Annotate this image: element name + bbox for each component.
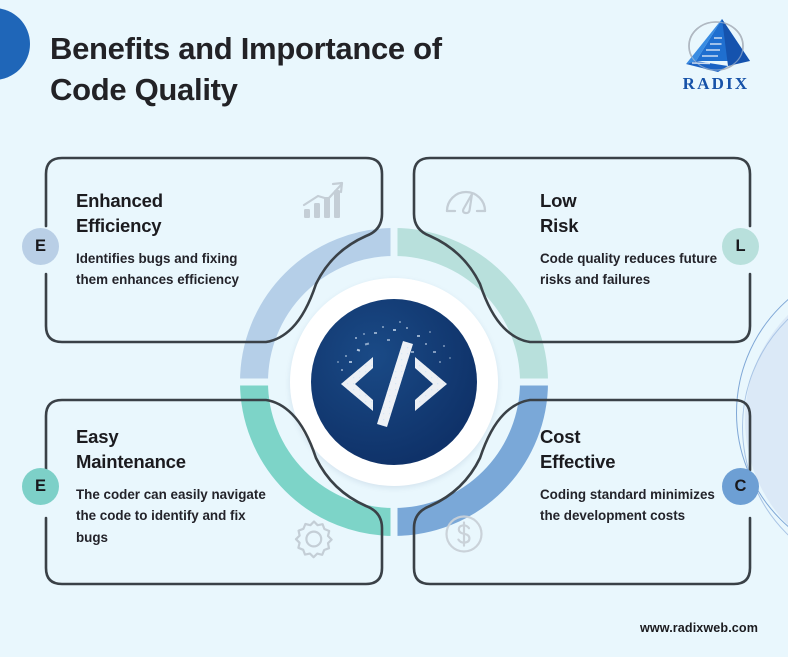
badge-letter: C [735, 477, 747, 496]
card-description: Coding standard minimizes the developmen… [540, 484, 736, 527]
badge-letter: E [35, 477, 46, 496]
card-content: Low Risk Code quality reduces future ris… [540, 188, 736, 291]
card-enhanced-efficiency[interactable]: Enhanced Efficiency Identifies bugs and … [44, 156, 384, 354]
gear-icon [292, 516, 336, 565]
decorative-blue-circle-top-left [0, 8, 30, 80]
card-content: Easy Maintenance The coder can easily na… [76, 424, 276, 549]
page-title-line-2: Code Quality [50, 69, 610, 110]
card-title: Cost Effective [540, 424, 736, 475]
badge-enhanced-efficiency[interactable]: E [22, 228, 59, 265]
card-title: Enhanced Efficiency [76, 188, 266, 239]
card-title: Easy Maintenance [76, 424, 276, 475]
card-title-line-2: Effective [540, 449, 736, 474]
badge-easy-maintenance[interactable]: E [22, 468, 59, 505]
card-title-line-1: Enhanced [76, 188, 266, 213]
page-title-line-1: Benefits and Importance of [50, 31, 442, 66]
footer-website[interactable]: www.radixweb.com [640, 621, 758, 635]
card-title: Low Risk [540, 188, 736, 239]
card-description: The coder can easily navigate the code t… [76, 484, 276, 549]
card-cost-effective[interactable]: Cost Effective Coding standard minimizes… [412, 396, 752, 588]
card-title-line-2: Risk [540, 213, 736, 238]
badge-cost-effective[interactable]: C [722, 468, 759, 505]
card-title-line-1: Low [540, 188, 736, 213]
badge-letter: E [35, 237, 46, 256]
infographic-canvas: Benefits and Importance of Code Quality [0, 0, 788, 657]
card-easy-maintenance[interactable]: Easy Maintenance The coder can easily na… [44, 396, 384, 588]
card-title-line-1: Cost [540, 424, 736, 449]
card-content: Cost Effective Coding standard minimizes… [540, 424, 736, 527]
dollar-coin-icon [442, 512, 486, 561]
card-title-line-2: Efficiency [76, 213, 266, 238]
card-description: Identifies bugs and fixing them enhances… [76, 248, 266, 291]
card-title-line-2: Maintenance [76, 449, 276, 474]
card-content: Enhanced Efficiency Identifies bugs and … [76, 188, 266, 291]
page-title: Benefits and Importance of Code Quality [50, 28, 610, 110]
logo-wordmark: RADIX [672, 74, 760, 94]
radix-pyramid-icon [678, 16, 754, 76]
header: Benefits and Importance of Code Quality [50, 28, 610, 110]
card-description: Code quality reduces future risks and fa… [540, 248, 736, 291]
growth-bar-chart-icon [300, 180, 348, 227]
card-low-risk[interactable]: Low Risk Code quality reduces future ris… [412, 156, 752, 354]
brand-logo: RADIX [672, 16, 760, 102]
badge-low-risk[interactable]: L [722, 228, 759, 265]
card-title-line-1: Easy [76, 424, 276, 449]
badge-letter: L [735, 237, 745, 256]
speedometer-gauge-icon [442, 182, 490, 223]
